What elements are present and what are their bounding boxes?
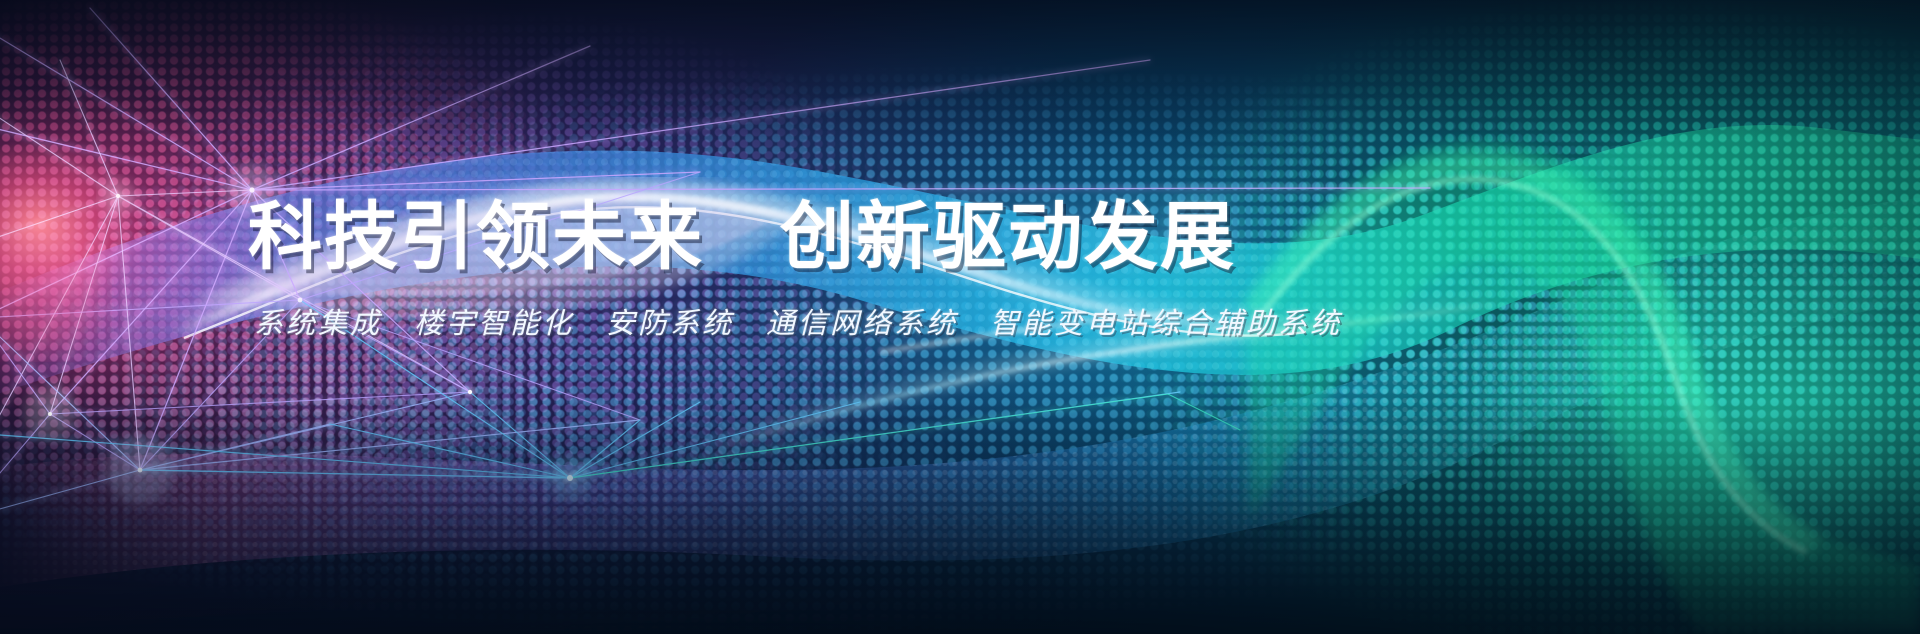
banner-copy: 科技引领未来 创新驱动发展 系统集成 楼宇智能化 安防系统 通信网络系统 智能变… xyxy=(248,198,1428,342)
banner-subline: 系统集成 楼宇智能化 安防系统 通信网络系统 智能变电站综合辅助系统 xyxy=(254,300,1428,342)
banner-headline: 科技引领未来 创新驱动发展 xyxy=(248,198,1428,276)
hero-banner: 科技引领未来 创新驱动发展 系统集成 楼宇智能化 安防系统 通信网络系统 智能变… xyxy=(0,0,1920,634)
